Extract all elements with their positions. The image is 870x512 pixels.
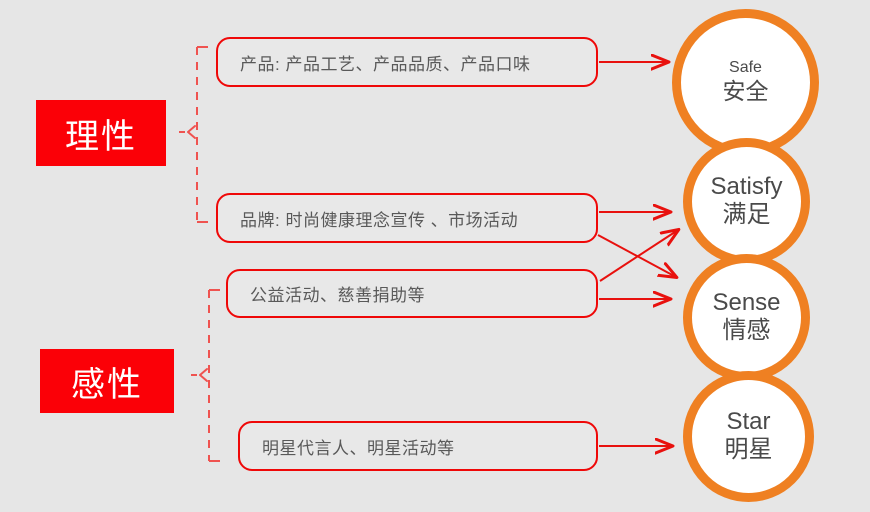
diagram-canvas: 理性 感性 产品: 产品工艺、产品品质、产品口味 品牌: 时尚健康理念宣传 、市…	[0, 0, 870, 512]
arrow-group	[0, 0, 870, 512]
arrow-charity-to-satisfy	[600, 230, 678, 281]
